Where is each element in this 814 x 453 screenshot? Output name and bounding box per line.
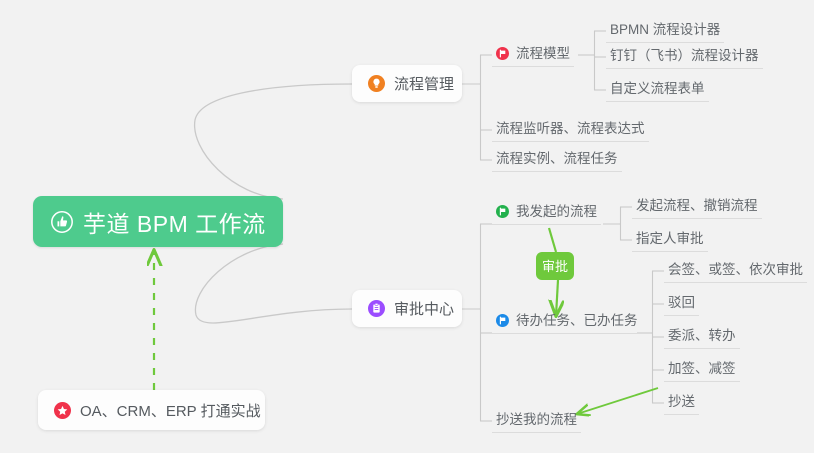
root-node[interactable]: 芋道 BPM 工作流 — [33, 196, 283, 247]
leaf-label-assignee-approval: 指定人审批 — [636, 232, 704, 246]
branch-node-flow-management[interactable]: 流程管理 — [352, 65, 462, 102]
wire-root-to-flow-management — [195, 84, 352, 199]
footnote-label: OA、CRM、ERP 打通实战 — [80, 400, 261, 421]
leaf-label-cc: 抄送 — [668, 395, 695, 409]
leaf-reject[interactable]: 驳回 — [664, 293, 699, 316]
branch-label-flow-management: 流程管理 — [394, 73, 454, 94]
leaf-label-my-initiated-flows: 我发起的流程 — [516, 205, 597, 219]
leaf-flow-model[interactable]: 流程模型 — [492, 44, 574, 67]
leaf-countersign-or-sequential[interactable]: 会签、或签、依次审批 — [664, 260, 807, 283]
leaf-label-start-cancel-flow: 发起流程、撤销流程 — [636, 199, 758, 213]
lightbulb-icon — [368, 75, 385, 92]
leaf-label-todo-done-tasks: 待办任务、已办任务 — [516, 314, 638, 328]
leaf-label-add-remove-sign: 加签、减签 — [668, 362, 736, 376]
flag-icon — [496, 314, 509, 327]
leaf-cc-to-me-flows[interactable]: 抄送我的流程 — [492, 410, 581, 433]
thumbs-up-icon — [51, 211, 73, 233]
leaf-label-flow-model: 流程模型 — [516, 47, 570, 61]
leaf-label-flow-listener-expression: 流程监听器、流程表达式 — [496, 122, 645, 136]
branch-node-approval-center[interactable]: 审批中心 — [352, 290, 462, 327]
annotation-arrow-approval — [549, 228, 556, 252]
leaf-label-delegate-transfer: 委派、转办 — [668, 329, 736, 343]
leaf-todo-done-tasks[interactable]: 待办任务、已办任务 — [492, 311, 642, 334]
leaf-label-dingtalk-feishu-designer: 钉钉（飞书）流程设计器 — [610, 49, 759, 63]
leaf-add-remove-sign[interactable]: 加签、减签 — [664, 359, 740, 382]
star-icon — [54, 402, 71, 419]
leaf-cc[interactable]: 抄送 — [664, 392, 699, 415]
leaf-delegate-transfer[interactable]: 委派、转办 — [664, 326, 740, 349]
wire-root-to-approval-center — [195, 244, 352, 323]
leaf-label-cc-to-me-flows: 抄送我的流程 — [496, 413, 577, 427]
root-label: 芋道 BPM 工作流 — [83, 205, 266, 239]
leaf-assignee-approval[interactable]: 指定人审批 — [632, 229, 708, 252]
branch-label-approval-center: 审批中心 — [394, 298, 454, 319]
flag-icon — [496, 205, 509, 218]
approval-badge-label: 审批 — [542, 260, 568, 273]
leaf-custom-flow-form[interactable]: 自定义流程表单 — [606, 79, 709, 102]
leaf-label-reject: 驳回 — [668, 296, 695, 310]
footnote-node-oa-crm-erp[interactable]: OA、CRM、ERP 打通实战 — [38, 390, 265, 430]
mindmap-canvas: 芋道 BPM 工作流 流程管理 审批中心 — [0, 0, 814, 453]
leaf-label-countersign-or-sequential: 会签、或签、依次审批 — [668, 263, 803, 277]
leaf-label-flow-instance-task: 流程实例、流程任务 — [496, 152, 618, 166]
leaf-start-cancel-flow[interactable]: 发起流程、撤销流程 — [632, 196, 762, 219]
flag-icon — [496, 47, 509, 60]
leaf-flow-listener-expression[interactable]: 流程监听器、流程表达式 — [492, 119, 649, 142]
clipboard-icon — [368, 300, 385, 317]
annotation-arrow-cc — [577, 388, 658, 414]
leaf-dingtalk-feishu-designer[interactable]: 钉钉（飞书）流程设计器 — [606, 46, 763, 69]
leaf-label-bpmn-designer: BPMN 流程设计器 — [610, 23, 720, 37]
leaf-bpmn-designer[interactable]: BPMN 流程设计器 — [606, 20, 724, 43]
leaf-label-custom-flow-form: 自定义流程表单 — [610, 82, 705, 96]
leaf-flow-instance-task[interactable]: 流程实例、流程任务 — [492, 149, 622, 172]
approval-badge[interactable]: 审批 — [536, 252, 574, 280]
leaf-my-initiated-flows[interactable]: 我发起的流程 — [492, 202, 601, 225]
